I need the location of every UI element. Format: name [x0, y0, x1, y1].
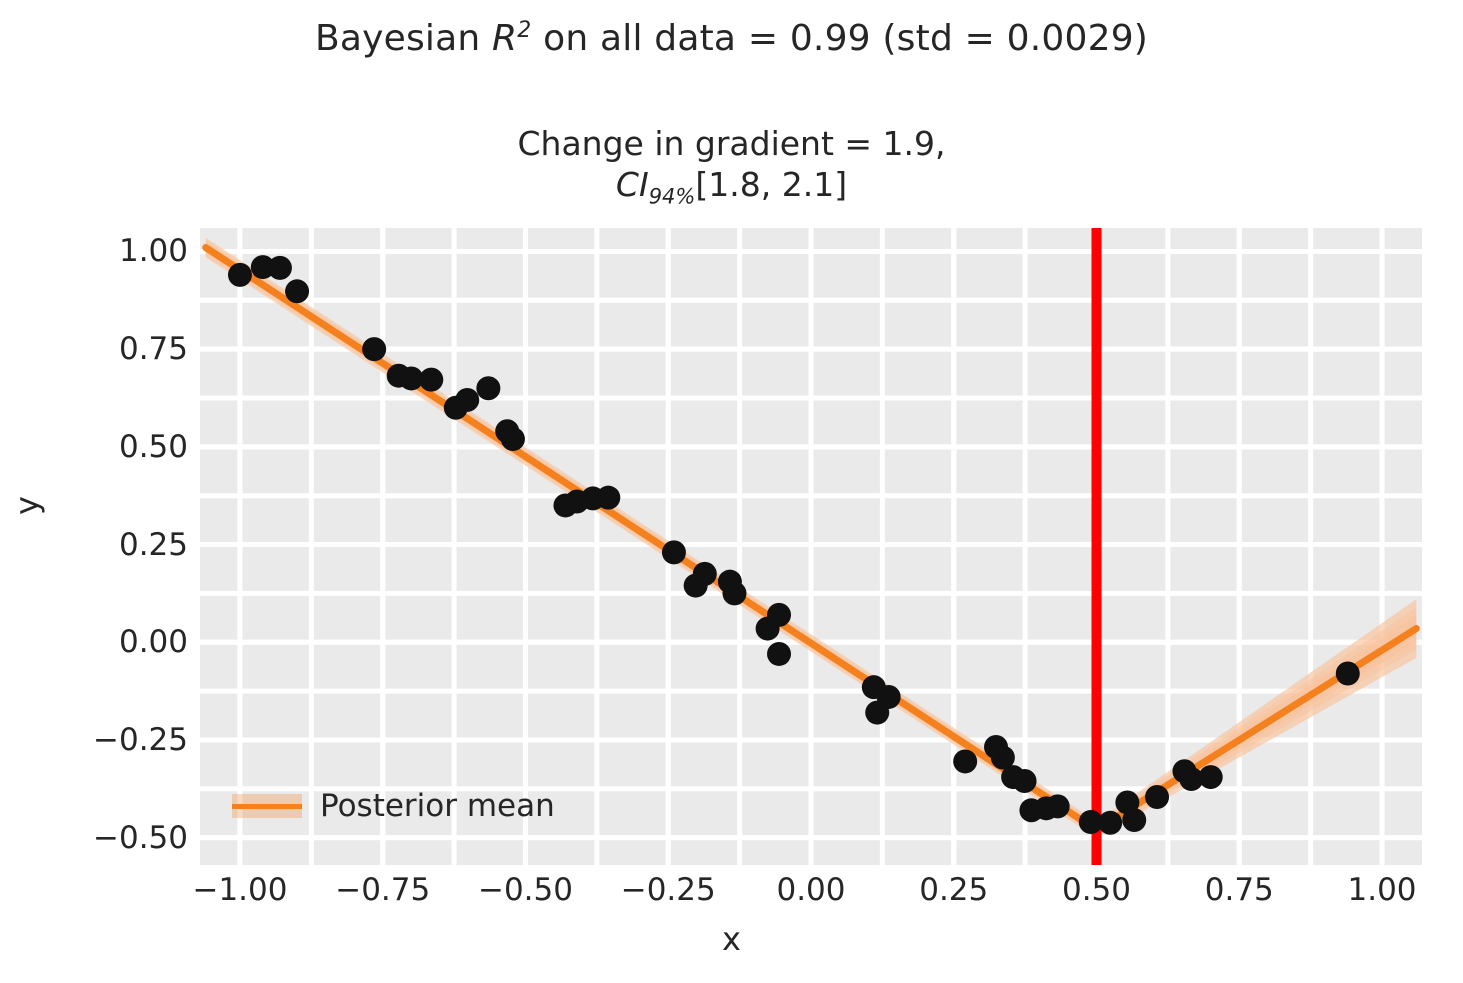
x-tick-label: 1.00: [1348, 872, 1417, 908]
chart-legend[interactable]: Posterior mean: [220, 782, 567, 830]
data-point: [501, 427, 525, 451]
data-point: [1199, 765, 1223, 789]
y-tick-label: 0.25: [119, 527, 188, 563]
ci-level: 94%: [649, 185, 696, 209]
ci-symbol: CI: [616, 165, 649, 204]
data-point: [722, 581, 746, 605]
axes-title-line1: Change in gradient = 1.9,: [0, 124, 1463, 165]
y-tick-label: −0.25: [93, 722, 188, 758]
y-tick-label: 0.75: [119, 331, 188, 367]
legend-label-posterior-mean: Posterior mean: [320, 788, 555, 824]
data-point: [1336, 662, 1360, 686]
y-tick-label: −0.50: [93, 820, 188, 856]
data-point: [476, 376, 500, 400]
data-point: [767, 603, 791, 627]
legend-line-patch: [232, 804, 302, 809]
x-tick-label: 0.25: [919, 872, 988, 908]
y-tick-label: 0.50: [119, 429, 188, 465]
data-point: [268, 256, 292, 280]
x-tick-label: −0.75: [335, 872, 430, 908]
figure-canvas: Bayesian R2 on all data = 0.99 (std = 0.…: [0, 0, 1463, 983]
suptitle-prefix: Bayesian: [315, 18, 492, 59]
y-axis-label: y: [8, 496, 46, 515]
data-point: [1145, 785, 1169, 809]
x-tick-label: 0.75: [1205, 872, 1274, 908]
ci-interval: [1.8, 2.1]: [695, 165, 847, 204]
data-point: [662, 540, 686, 564]
data-point: [693, 562, 717, 586]
data-point: [228, 263, 252, 287]
x-tick-label: −0.25: [621, 872, 716, 908]
y-tick-label: 0.00: [119, 624, 188, 660]
data-point: [596, 486, 620, 510]
x-tick-label: 0.00: [776, 872, 845, 908]
plot-area: [200, 228, 1422, 865]
data-point: [455, 388, 479, 412]
x-tick-label: 0.50: [1062, 872, 1131, 908]
data-point: [1122, 808, 1146, 832]
grid-lines: [200, 228, 1422, 865]
data-point: [362, 337, 386, 361]
suptitle-exponent: 2: [517, 18, 531, 43]
axes-title-line2: CI94%[1.8, 2.1]: [0, 165, 1463, 210]
data-point: [285, 279, 309, 303]
y-tick-label: 1.00: [119, 233, 188, 269]
legend-swatch-posterior-mean: [232, 791, 302, 821]
suptitle-r-symbol: R: [492, 18, 517, 59]
plot-svg: [200, 228, 1422, 865]
suptitle-suffix: on all data = 0.99 (std = 0.0029): [531, 18, 1148, 59]
x-axis-label: x: [0, 920, 1463, 958]
data-point: [953, 749, 977, 773]
data-point: [419, 368, 443, 392]
data-point: [1098, 811, 1122, 835]
data-point: [767, 642, 791, 666]
data-point: [1013, 769, 1037, 793]
x-tick-label: −0.50: [478, 872, 573, 908]
data-point: [877, 685, 901, 709]
x-tick-label: −1.00: [192, 872, 287, 908]
figure-suptitle: Bayesian R2 on all data = 0.99 (std = 0.…: [0, 18, 1463, 59]
axes-title: Change in gradient = 1.9, CI94%[1.8, 2.1…: [0, 124, 1463, 210]
data-point: [1046, 794, 1070, 818]
